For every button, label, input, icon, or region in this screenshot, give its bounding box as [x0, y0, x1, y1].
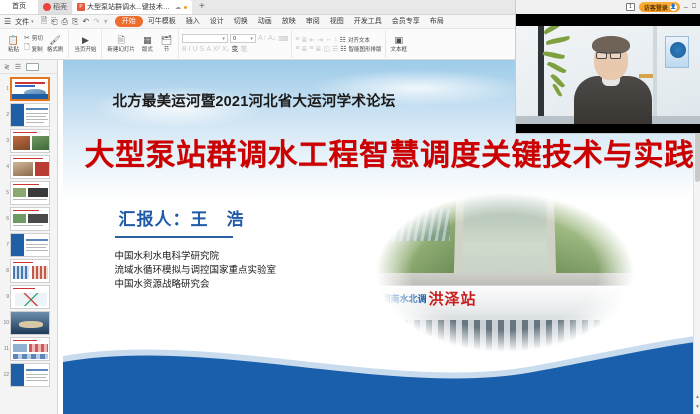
affiliation-block[interactable]: 中国水利水电科学研究院 流域水循环模拟与调控国家重点实验室 中国水资源战略研究会 — [115, 250, 277, 292]
align-text-label: 对齐文本 — [348, 36, 370, 44]
thumbnail-slide-6[interactable]: 6 — [0, 206, 57, 232]
thumbnail-slide-11[interactable]: 11 — [0, 336, 57, 362]
columns-button[interactable]: ☰ — [332, 45, 338, 53]
section-button[interactable]: 🗂 节 — [158, 30, 175, 58]
participant-count-badge: 1 — [626, 3, 635, 11]
smart-layout-label: 智能图形排版 — [349, 45, 382, 53]
tab-document-label: 大型泵站群调水...键技术与实践3 — [87, 2, 170, 12]
customize-toolbar-icon[interactable]: ▾ — [104, 17, 108, 26]
layout-icon: ▦ — [143, 35, 152, 46]
thumbnail-pane-header: ≷ ☰ — [0, 60, 57, 74]
thumbnail-number: 2 — [2, 112, 9, 118]
user-avatar-icon: 👤 — [670, 4, 677, 11]
thumbnail-view-icon[interactable] — [26, 63, 39, 71]
copy-label: 复制 — [32, 45, 43, 53]
unsaved-dot-icon — [184, 6, 187, 9]
thumbnail-preview — [10, 233, 50, 257]
thumbnail-number: 10 — [2, 320, 9, 326]
increase-indent-button[interactable]: ⇥ — [317, 36, 323, 44]
pinyin-guide-button[interactable]: 变 — [231, 44, 238, 54]
print-icon[interactable]: ⎙ — [62, 17, 68, 27]
thumbnail-preview — [10, 337, 50, 361]
slides-group: 🗎 新建幻灯片 ▦ 版式 🗂 节 — [102, 30, 179, 58]
bold-button[interactable]: B — [182, 46, 187, 53]
redo-icon[interactable]: ↷ — [93, 17, 100, 26]
thumbnail-number: 6 — [2, 216, 9, 222]
thumbnail-number: 1 — [2, 86, 9, 92]
cut-button[interactable]: ✂ 剪切 — [24, 34, 43, 42]
outline-icon[interactable]: ☰ — [15, 63, 21, 71]
slide-subtitle[interactable]: 北方最美运河暨2021河北省大运河学术论坛 — [113, 90, 396, 111]
thumbnail-preview — [10, 363, 50, 387]
thumbnail-list: 1 2 — [0, 74, 57, 414]
thumbnail-number: 3 — [2, 138, 9, 144]
ribbon-tab-templates[interactable]: 可牛模板 — [143, 15, 181, 29]
new-slide-button[interactable]: 🗎 新建幻灯片 — [105, 30, 137, 58]
thumbnail-preview — [10, 129, 50, 153]
section-icon: 🗂 — [161, 35, 172, 46]
layout-label: 版式 — [142, 46, 153, 54]
font-size-input[interactable]: 0 ▾ — [230, 34, 256, 43]
start-from-current-label: 当页开始 — [74, 46, 96, 54]
thumbnail-slide-7[interactable]: 7 — [0, 232, 57, 258]
presentation-group: ▶ 当页开始 — [69, 30, 102, 58]
divider — [115, 236, 233, 238]
thumbnail-preview — [10, 285, 50, 309]
restore-icon[interactable]: ⎕ — [692, 3, 696, 11]
thumbnail-slide-3[interactable]: 3 — [0, 128, 57, 154]
tab-document[interactable]: P 大型泵站群调水...键技术与实践3 ☁ — [72, 0, 192, 14]
scroll-down-icon[interactable]: ▼ — [695, 404, 700, 410]
format-painter-button[interactable]: 🖌 格式刷 — [45, 30, 66, 58]
tab-dochub-label: 稻壳 — [53, 2, 67, 12]
scissors-icon: ✂ — [24, 34, 30, 42]
powerpoint-file-icon: P — [77, 3, 85, 11]
slide-wave-decoration — [63, 322, 696, 414]
page-title[interactable]: 大型泵站群调水工程智慧调度关键技术与实践 — [85, 130, 685, 174]
decrease-indent-button[interactable]: ⇤ — [309, 36, 315, 44]
ribbon-tab-insert[interactable]: 插入 — [181, 15, 205, 29]
thumbnail-preview — [10, 207, 50, 231]
new-tab-button[interactable]: + — [192, 0, 212, 14]
cloud-icon[interactable]: ☁ — [175, 4, 181, 11]
file-menu-label: 文件 — [15, 17, 29, 27]
slide-thumbnail-pane[interactable]: ≷ ☰ 1 2 — [0, 60, 58, 414]
smart-layout-button[interactable]: ☷ — [340, 45, 346, 53]
ribbon-tab-review[interactable]: 审阅 — [301, 15, 325, 29]
new-slide-label: 新建幻灯片 — [107, 46, 135, 54]
paste-button[interactable]: 📋 粘贴 — [5, 30, 22, 58]
format-painter-label: 格式刷 — [47, 46, 64, 54]
align-text-button[interactable]: ☷ — [340, 36, 346, 44]
highlight-button[interactable]: 笔 — [240, 44, 247, 54]
chevron-down-icon: ▾ — [250, 36, 253, 42]
ribbon-tabs: 开始 可牛模板 插入 设计 切换 动画 放映 审阅 视图 开发工具 会员专享 布… — [115, 15, 449, 29]
presenter-name[interactable]: 汇报人：王 浩 — [119, 205, 245, 230]
paragraph-group: ≡ ≣ ⇤ ⇥ ↔ ↕ ☷ 对齐文本 ≡ ≣ ≡ ≣ ◫ ☰ ☷ — [292, 30, 385, 58]
thumbnail-preview — [10, 155, 50, 179]
chevron-down-icon: ▾ — [222, 36, 225, 42]
ribbon-tab-member[interactable]: 会员专享 — [387, 15, 425, 29]
ribbon-tab-developer[interactable]: 开发工具 — [349, 15, 387, 29]
station-signage: 中国南水北调 洪泽站 — [373, 288, 637, 309]
textbox-icon: ▣ — [395, 35, 404, 46]
cut-label: 剪切 — [32, 34, 43, 42]
text-color-button[interactable]: A — [206, 46, 211, 53]
ribbon-tab-transition[interactable]: 切换 — [229, 15, 253, 29]
quick-access-toolbar: 🗎 ⎗ ⎙ ⎘ ↶ ↷ ▾ — [36, 15, 113, 29]
justify-button[interactable]: ≣ — [315, 45, 321, 53]
thumbnail-preview — [10, 311, 50, 335]
thumbnail-slide-12[interactable]: 12 — [0, 362, 57, 388]
copy-button[interactable]: 🗋 复制 — [24, 43, 43, 54]
ribbon-tab-view[interactable]: 视图 — [325, 15, 349, 29]
thumbnail-slide-10[interactable]: 10 — [0, 310, 57, 336]
start-from-current-button[interactable]: ▶ 当页开始 — [72, 30, 98, 58]
numbering-button[interactable]: ≣ — [301, 36, 307, 44]
font-group: ▾ 0 ▾ A↑ A↓ ⌨ B I U S A X² — [179, 30, 292, 58]
affiliation-line: 中国水资源战略研究会 — [115, 278, 277, 292]
grow-font-icon[interactable]: A↑ — [258, 35, 266, 42]
paste-icon: 📋 — [8, 35, 19, 46]
shrink-font-icon[interactable]: A↓ — [268, 35, 276, 42]
thumbnail-number: 4 — [2, 164, 9, 170]
guest-login-label: 访客登录 — [644, 3, 668, 12]
save-icon[interactable]: 🗎 — [41, 15, 47, 29]
align-center-button[interactable]: ≣ — [301, 45, 307, 53]
presenter-video-feed[interactable] — [516, 14, 700, 134]
guest-login-button[interactable]: 访客登录 👤 — [639, 2, 680, 12]
thumbnail-slide-9[interactable]: 9 — [0, 284, 57, 310]
thumbnail-preview — [10, 259, 50, 283]
video-frame — [516, 26, 700, 124]
minimize-icon[interactable]: – — [684, 4, 688, 11]
ribbon-tab-start[interactable]: 开始 — [115, 16, 143, 27]
play-circle-icon: ▶ — [82, 35, 89, 46]
file-menu-button[interactable]: 文件 ▾ — [13, 17, 36, 27]
affiliation-line: 流域水循环模拟与调控国家重点实验室 — [115, 264, 277, 278]
thumbnail-slide-1[interactable]: 1 — [0, 76, 57, 102]
print-preview-icon[interactable]: ⎘ — [72, 17, 78, 27]
font-name-input[interactable]: ▾ — [182, 34, 228, 43]
thumbnail-number: 11 — [2, 346, 9, 352]
font-size-value: 0 — [233, 36, 236, 42]
strikethrough-button[interactable]: S — [200, 46, 205, 53]
video-window-titlebar: 1 访客登录 👤 – ⎕ — [516, 0, 700, 14]
copy-icon: 🗋 — [24, 43, 30, 54]
thumbnail-slide-2[interactable]: 2 — [0, 102, 57, 128]
thumbnail-number: 9 — [2, 294, 9, 300]
thumbnail-slide-8[interactable]: 8 — [0, 258, 57, 284]
thumbnail-preview — [10, 103, 50, 127]
chevron-down-icon: ▾ — [31, 19, 34, 25]
tab-home[interactable]: 首页 — [0, 0, 38, 14]
thumbnail-number: 7 — [2, 242, 9, 248]
thumbnail-number: 5 — [2, 190, 9, 196]
video-conference-window[interactable]: 1 访客登录 👤 – ⎕ — [515, 0, 700, 134]
affiliation-line: 中国水利水电科学研究院 — [115, 250, 277, 264]
line-spacing-button[interactable]: ↕ — [334, 36, 338, 43]
clipboard-group: 📋 粘贴 ✂ 剪切 🗋 复制 🖌 格式刷 — [2, 30, 69, 58]
undo-icon[interactable]: ↶ — [82, 17, 89, 26]
wall-poster — [665, 36, 689, 68]
text-direction-button[interactable]: ↔ — [325, 36, 332, 43]
signage-blue-text: 中国南水北调 — [373, 292, 427, 305]
align-right-button[interactable]: ≡ — [309, 45, 313, 52]
ribbon-tab-layout[interactable]: 布局 — [425, 15, 449, 29]
clear-format-icon[interactable]: ⌨ — [278, 35, 288, 43]
new-slide-icon: 🗎 — [118, 35, 125, 46]
ribbon-tab-animation[interactable]: 动画 — [253, 15, 277, 29]
paste-label: 粘贴 — [8, 46, 19, 54]
layout-button[interactable]: ▦ 版式 — [139, 30, 156, 58]
save-as-icon[interactable]: ⎗ — [51, 17, 57, 27]
thumbnail-number: 8 — [2, 268, 9, 274]
italic-button[interactable]: I — [189, 46, 191, 53]
subscript-button[interactable]: X₂ — [222, 46, 229, 53]
thumbnail-slide-4[interactable]: 4 — [0, 154, 57, 180]
bullets-button[interactable]: ≡ — [295, 36, 299, 43]
ribbon-tab-design[interactable]: 设计 — [205, 15, 229, 29]
superscript-button[interactable]: X² — [213, 46, 220, 53]
collapse-icon[interactable]: ≷ — [4, 63, 10, 71]
signage-red-text: 洪泽站 — [429, 288, 477, 309]
wps-presentation-window: 首页 稻壳 P 大型泵站群调水...键技术与实践3 ☁ + ☰ 文件 ▾ 🗎 ⎗… — [0, 0, 700, 414]
scroll-up-icon[interactable]: ▲ — [695, 394, 700, 400]
underline-button[interactable]: U — [193, 46, 198, 53]
thumbnail-preview — [10, 77, 50, 101]
textbox-label: 文本框 — [391, 46, 408, 54]
textbox-group: ▣ 文本框 — [386, 30, 413, 58]
section-label: 节 — [164, 46, 170, 54]
paintbrush-icon: 🖌 — [49, 35, 60, 46]
menu-icon[interactable]: ☰ — [2, 17, 13, 26]
dochub-icon — [43, 3, 51, 11]
distribute-button[interactable]: ◫ — [323, 45, 330, 53]
tab-dochub[interactable]: 稻壳 — [38, 0, 72, 14]
textbox-button[interactable]: ▣ 文本框 — [389, 30, 410, 58]
thumbnail-number: 12 — [2, 372, 9, 378]
thumbnail-preview — [10, 181, 50, 205]
ribbon-tab-slideshow[interactable]: 放映 — [277, 15, 301, 29]
thumbnail-slide-5[interactable]: 5 — [0, 180, 57, 206]
align-left-button[interactable]: ≡ — [295, 45, 299, 52]
